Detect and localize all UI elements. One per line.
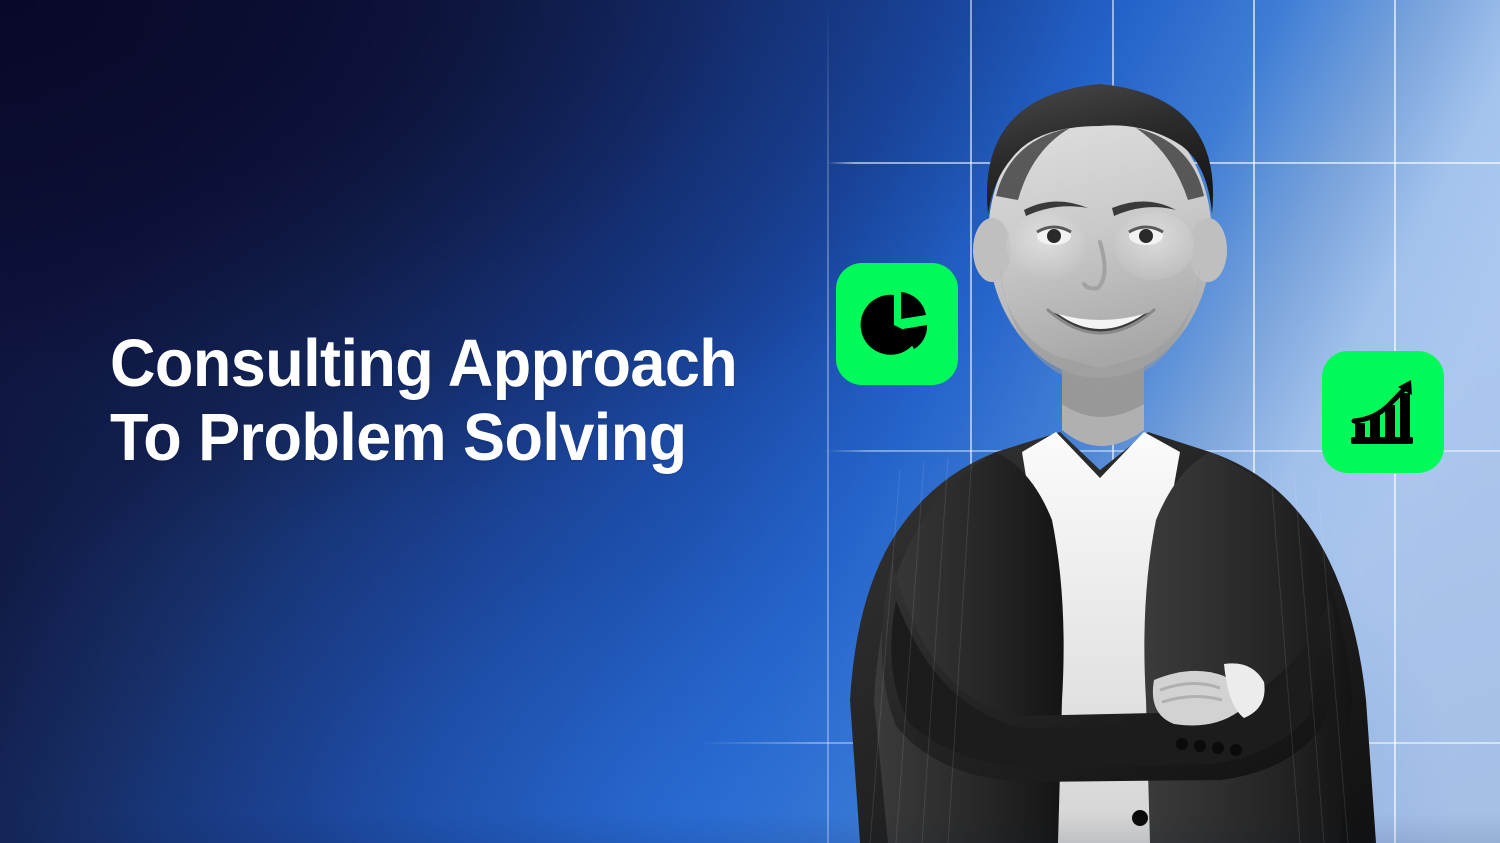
growth-bar-chart-icon — [1345, 375, 1421, 449]
headline: Consulting Approach To Problem Solving — [110, 327, 737, 475]
pie-chart-badge — [836, 263, 958, 385]
banner-root: Consulting Approach To Problem Solving — [0, 0, 1500, 843]
pie-chart-icon — [860, 287, 934, 361]
growth-chart-badge — [1322, 351, 1444, 473]
headline-line-1: Consulting Approach — [110, 327, 737, 401]
headline-line-2: To Problem Solving — [110, 401, 737, 475]
